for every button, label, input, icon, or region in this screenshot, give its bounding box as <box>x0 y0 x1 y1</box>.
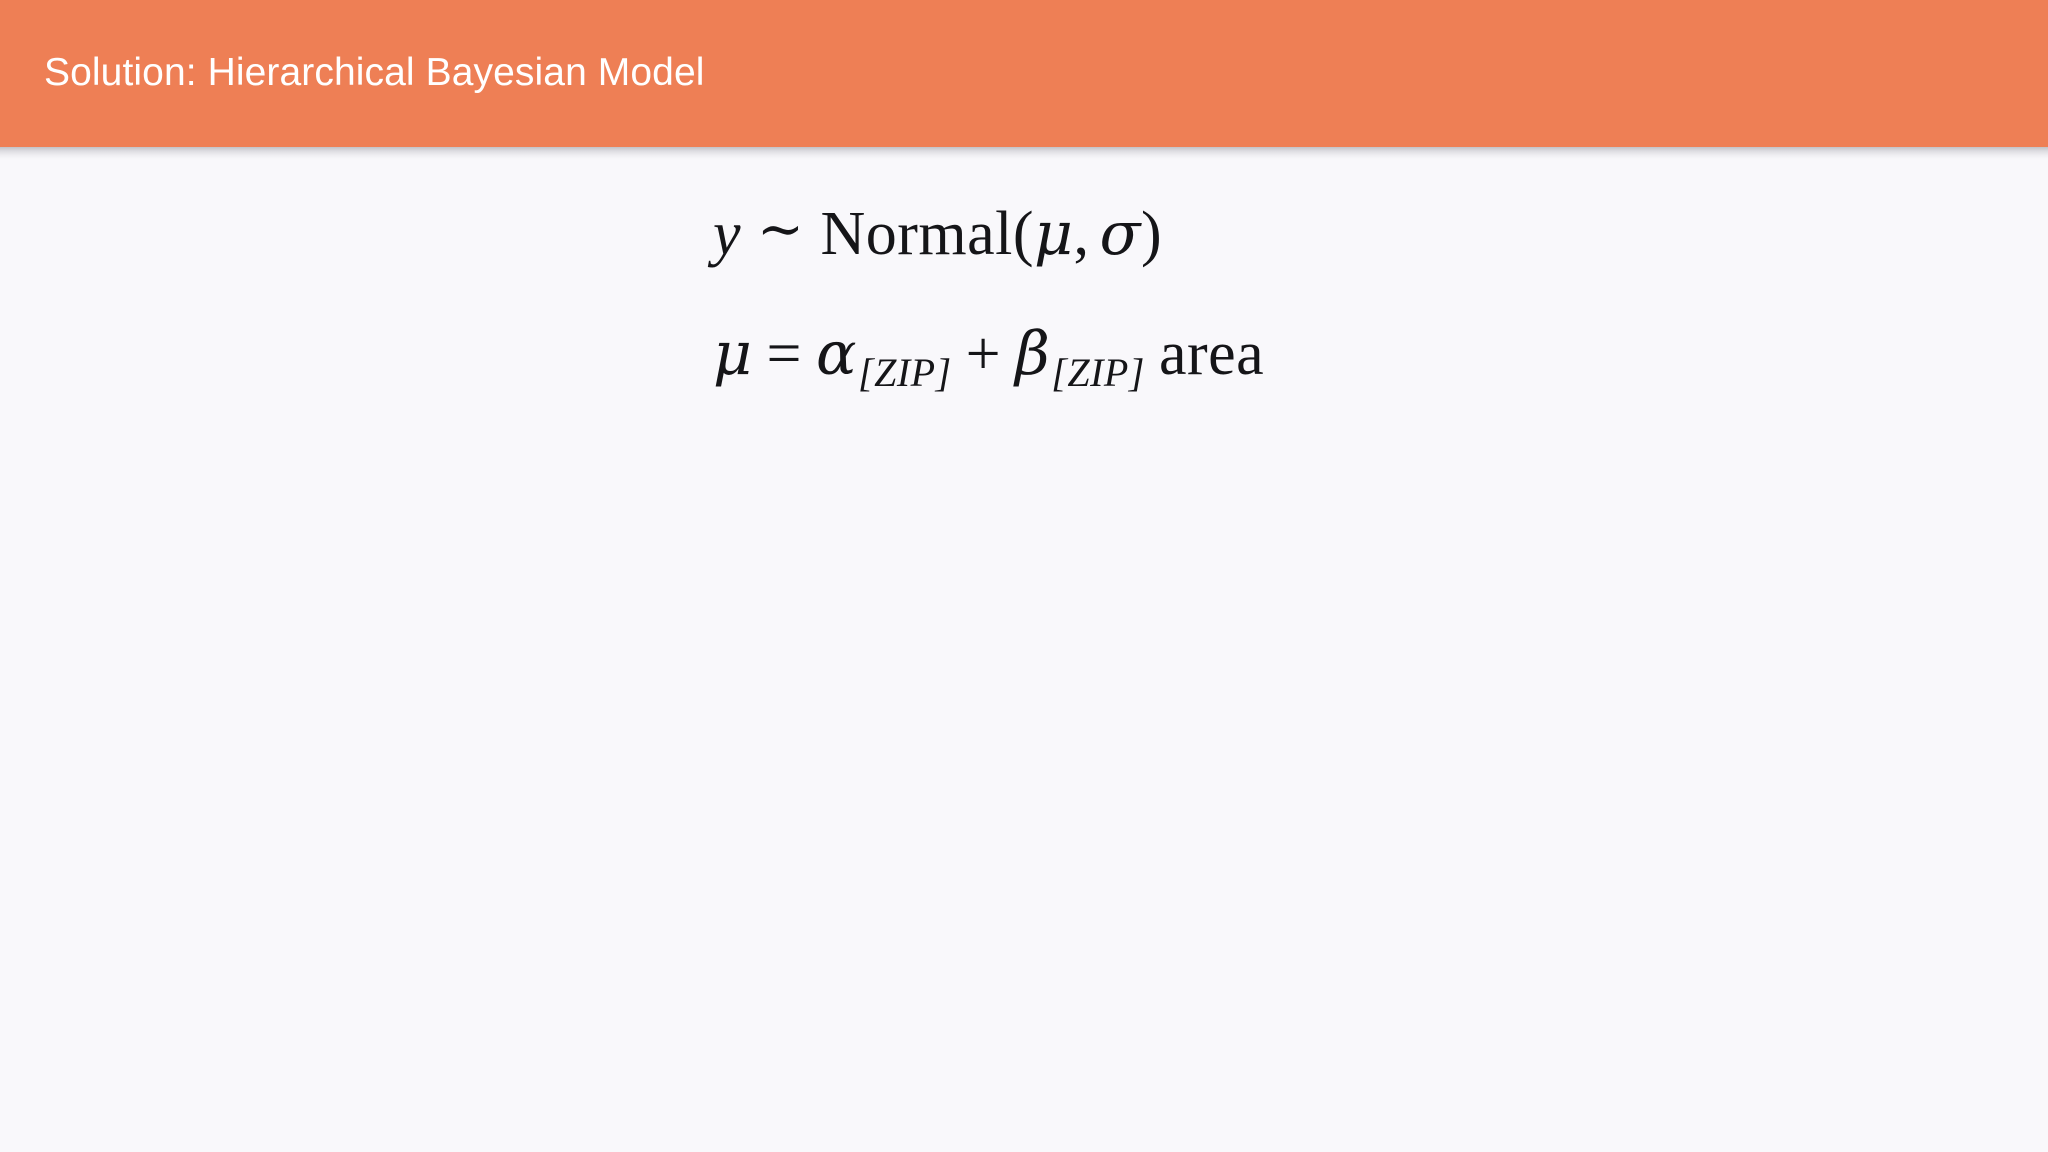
formula-subscript-beta-zip: [ZIP] <box>1050 350 1145 395</box>
formula-parameter-sigma: σ <box>1100 199 1141 269</box>
formula-operator-plus: + <box>952 320 1015 388</box>
formula-line-likelihood: y∼Normal(μ,σ) <box>713 175 1264 295</box>
slide-body: y∼Normal(μ,σ) μ=α[ZIP]+β[ZIP]area <box>0 161 2048 1152</box>
formula-open-paren: ( <box>1013 200 1034 268</box>
formula-parameter-separator: , <box>1074 200 1100 268</box>
slide: Solution: Hierarchical Bayesian Model y∼… <box>0 0 2048 1152</box>
formula-variable-y: y <box>713 200 743 268</box>
formula-subscript-alpha-zip: [ZIP] <box>857 350 952 395</box>
page-title: Solution: Hierarchical Bayesian Model <box>0 52 705 95</box>
formula-predictor-area: area <box>1145 320 1264 388</box>
formula-coefficient-beta: β <box>1015 319 1050 389</box>
formula-operator-equals: = <box>753 320 816 388</box>
slide-header: Solution: Hierarchical Bayesian Model <box>0 0 2048 147</box>
formula-operator-distributed-as: ∼ <box>743 199 820 261</box>
formula-parameter-mu: μ <box>1034 199 1074 269</box>
formula-variable-mu: μ <box>713 319 753 389</box>
formula-coefficient-alpha: α <box>816 319 857 389</box>
header-shadow-divider <box>0 147 2048 161</box>
model-formula-block: y∼Normal(μ,σ) μ=α[ZIP]+β[ZIP]area <box>713 175 1264 432</box>
formula-line-linear-model: μ=α[ZIP]+β[ZIP]area <box>713 295 1264 432</box>
formula-close-paren: ) <box>1141 200 1162 268</box>
formula-distribution-name: Normal <box>820 200 1012 268</box>
